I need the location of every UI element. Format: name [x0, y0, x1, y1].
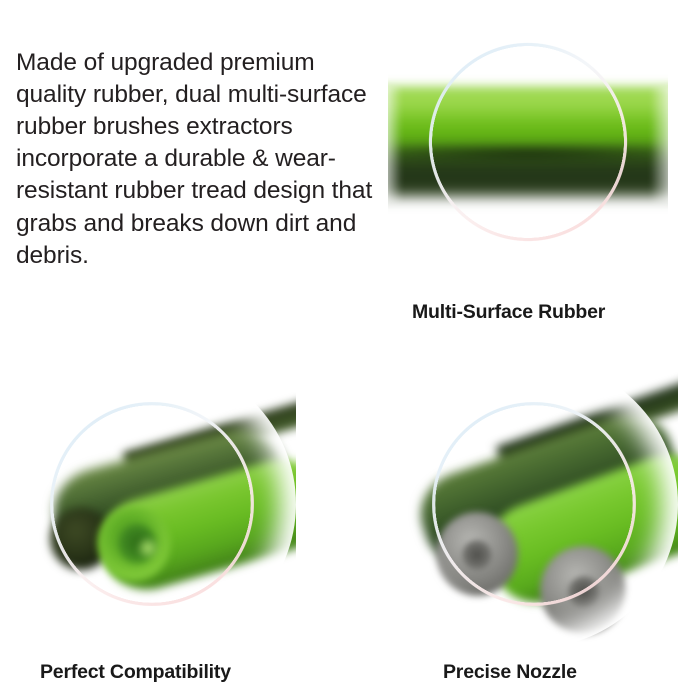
circle-ring-outline — [8, 360, 296, 648]
caption-perfect-compatibility: Perfect Compatibility — [40, 661, 231, 684]
circle-ring-outline — [390, 360, 678, 648]
product-feature-panel: Made of upgraded premium quality rubber,… — [0, 0, 679, 690]
feature-image-multi-surface-rubber — [388, 2, 668, 282]
circle-ring-outline — [388, 2, 668, 282]
feature-image-perfect-compatibility — [8, 360, 296, 648]
product-description-text: Made of upgraded premium quality rubber,… — [16, 47, 376, 272]
caption-multi-surface-rubber: Multi-Surface Rubber — [412, 301, 605, 324]
feature-image-precise-nozzle — [390, 360, 678, 648]
caption-precise-nozzle: Precise Nozzle — [443, 661, 577, 684]
